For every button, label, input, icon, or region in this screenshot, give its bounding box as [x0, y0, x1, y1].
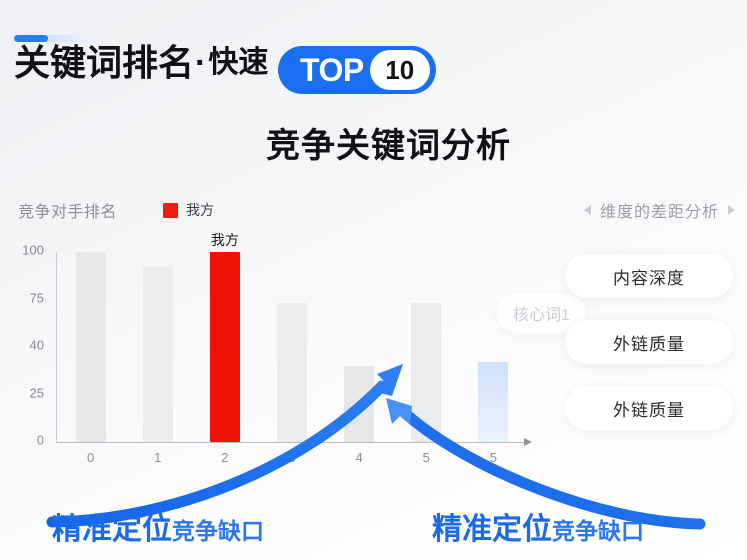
header-progress-bar [14, 35, 114, 42]
y-axis-tick: 100 [22, 243, 44, 258]
x-axis-tick: 0 [87, 450, 94, 465]
page-subtitle: 竞争关键词分析 [0, 118, 747, 167]
dimension-card[interactable]: 内容深度 [565, 254, 733, 298]
top-rank-label: TOP [300, 54, 364, 86]
bar-chart: 1007540250 0123455我方 [10, 250, 540, 465]
chart-bar[interactable] [277, 303, 307, 442]
legend-swatch-icon [163, 203, 178, 218]
y-axis-tick: 25 [30, 385, 44, 400]
chart-bar[interactable] [143, 267, 173, 442]
top-rank-number: 10 [370, 50, 430, 90]
page-title-separator: · [195, 46, 206, 80]
page-title: 关键词排名 · 快速 [14, 45, 268, 81]
chart-bar[interactable] [210, 252, 240, 442]
page-title-sub: 快速 [208, 48, 268, 78]
header-progress-fill [14, 35, 48, 42]
caption-left-weak: 竞争缺口 [172, 512, 264, 546]
x-axis-line [56, 442, 526, 443]
x-axis-tick: 4 [356, 450, 363, 465]
dimension-card[interactable]: 外链质量 [565, 320, 733, 364]
y-axis-tick: 75 [30, 290, 44, 305]
caption-left: 精准定位 竞争缺口 [52, 504, 264, 548]
x-axis-tick: 5 [490, 450, 497, 465]
chevron-right-icon[interactable] [728, 205, 735, 215]
bar-annotation: 我方 [211, 230, 239, 250]
y-axis: 1007540250 [10, 250, 50, 440]
x-axis-tick: 2 [221, 450, 228, 465]
legend-label: 我方 [186, 200, 214, 220]
chart-bar[interactable] [76, 252, 106, 442]
y-axis-tick: 40 [30, 338, 44, 353]
chart-bar[interactable] [478, 362, 508, 442]
caption-right: 精准定位 竞争缺口 [432, 504, 644, 548]
chart-title: 竞争对手排名 [18, 198, 117, 222]
x-axis-tick: 1 [154, 450, 161, 465]
chart-plot-area [57, 252, 527, 442]
page-title-main: 关键词排名 [14, 45, 194, 81]
chart-header: 竞争对手排名 我方 [18, 198, 214, 222]
panel-title: 维度的差距分析 [600, 198, 719, 222]
chevron-left-icon[interactable] [584, 205, 591, 215]
caption-right-strong: 精准定位 [432, 504, 552, 548]
caption-right-weak: 竞争缺口 [552, 512, 644, 546]
top-rank-badge: TOP 10 [278, 46, 436, 94]
dimension-card-label: 内容深度 [613, 264, 685, 289]
caption-left-strong: 精准定位 [52, 504, 172, 548]
chart-legend: 我方 [163, 200, 214, 220]
x-axis-tick: 5 [423, 450, 430, 465]
dimension-card-label: 外链质量 [613, 330, 685, 355]
dimension-card[interactable]: 外链质量 [565, 386, 733, 430]
panel-header: 维度的差距分析 [584, 198, 735, 222]
x-axis-tick: 3 [288, 450, 295, 465]
y-axis-tick: 0 [37, 433, 44, 448]
dimension-card-list: 内容深度 外链质量 外链质量 [565, 254, 733, 430]
chart-bar[interactable] [344, 366, 374, 442]
dimension-card-label: 外链质量 [613, 396, 685, 421]
chart-bar[interactable] [411, 303, 441, 442]
